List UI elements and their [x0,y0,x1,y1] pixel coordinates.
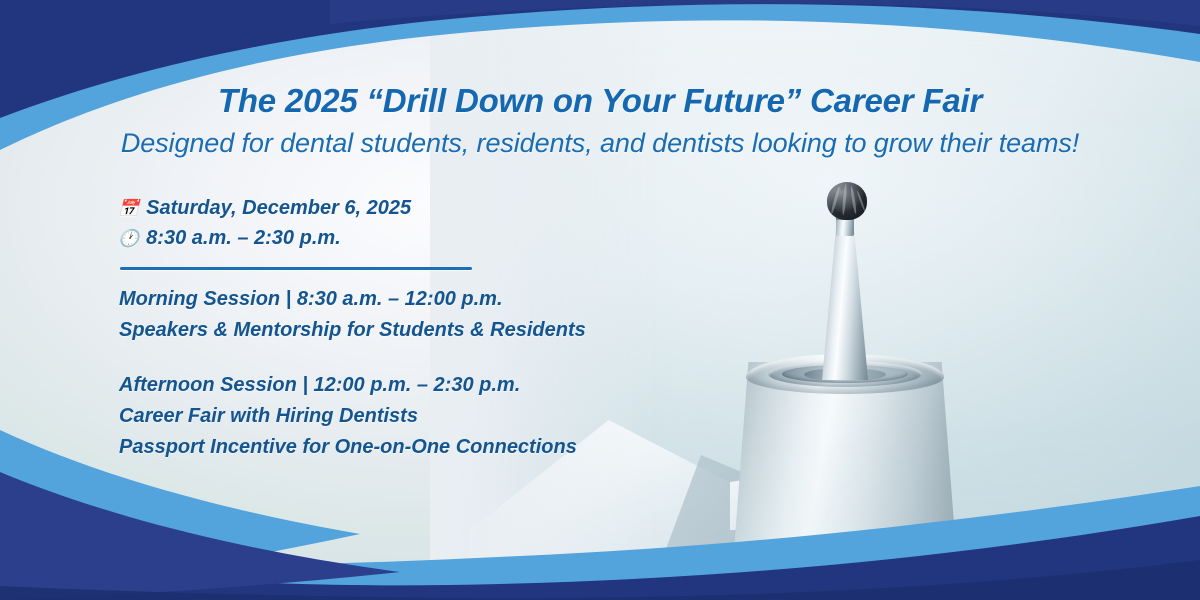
session-heading: Afternoon Session | 12:00 p.m. – 2:30 p.… [119,370,586,401]
session-detail: Speakers & Mentorship for Students & Res… [119,315,586,346]
session-detail: Career Fair with Hiring Dentists [119,401,586,432]
calendar-icon: 📅 [118,200,139,217]
banner-content: The 2025 “Drill Down on Your Future” Car… [0,0,1200,600]
event-datetime: 📅 Saturday, December 6, 2025 🕐 8:30 a.m.… [118,193,411,254]
session-block-afternoon: Afternoon Session | 12:00 p.m. – 2:30 p.… [119,370,586,463]
event-time-text: 8:30 a.m. – 2:30 p.m. [146,223,341,253]
session-detail: Passport Incentive for One-on-One Connec… [119,432,586,463]
session-block-morning: Morning Session | 8:30 a.m. – 12:00 p.m.… [119,284,586,346]
event-date-text: Saturday, December 6, 2025 [146,193,411,223]
career-fair-banner: The 2025 “Drill Down on Your Future” Car… [0,0,1200,600]
page-title: The 2025 “Drill Down on Your Future” Car… [0,82,1200,120]
session-heading: Morning Session | 8:30 a.m. – 12:00 p.m. [119,284,586,315]
page-subtitle: Designed for dental students, residents,… [0,128,1200,159]
event-time-row: 🕐 8:30 a.m. – 2:30 p.m. [118,223,411,253]
event-date-row: 📅 Saturday, December 6, 2025 [118,193,411,223]
clock-icon: 🕐 [118,230,139,247]
section-divider [120,267,472,270]
session-list: Morning Session | 8:30 a.m. – 12:00 p.m.… [119,284,586,463]
